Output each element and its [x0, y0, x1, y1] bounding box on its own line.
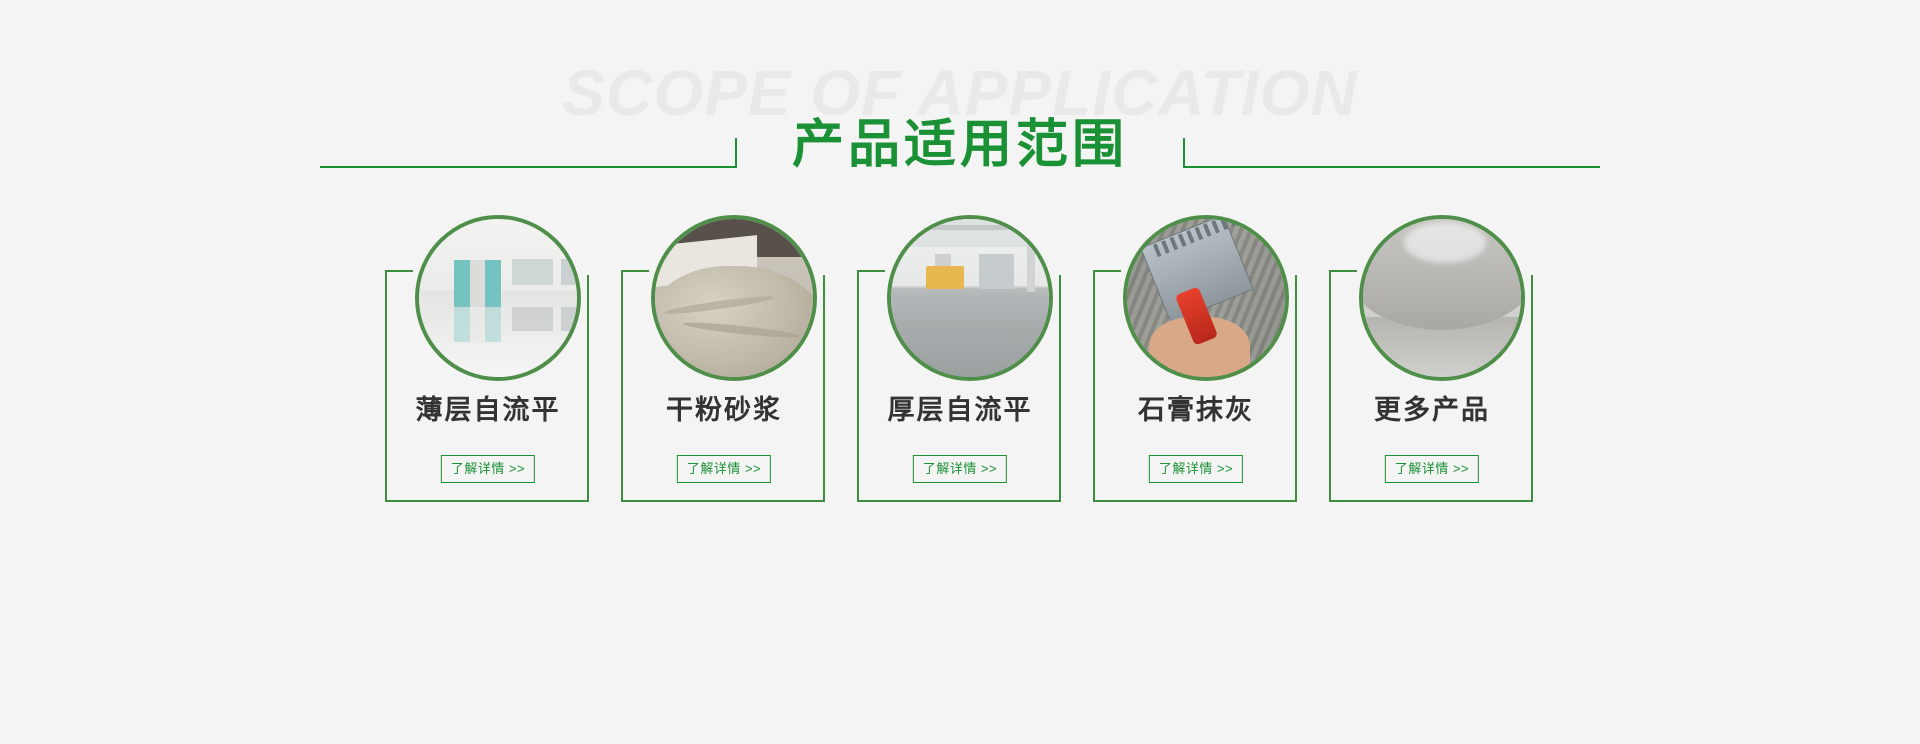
list-item[interactable]: 更多产品 了解详情 >>	[1329, 215, 1535, 505]
page-title: 产品适用范围	[737, 119, 1183, 171]
card-title: 干粉砂浆	[621, 397, 827, 424]
application-cards-list: 薄层自流平 了解详情 >> 干粉砂浆 了解详情 >>	[0, 215, 1920, 535]
section-header: SCOPE OF APPLICATION 产品适用范围	[0, 0, 1920, 215]
card-title: 薄层自流平	[385, 397, 591, 424]
scope-of-application-section: SCOPE OF APPLICATION 产品适用范围 薄层自流平 了解详情 >…	[0, 0, 1920, 744]
learn-more-button[interactable]: 了解详情 >>	[441, 455, 535, 483]
list-item[interactable]: 厚层自流平 了解详情 >>	[857, 215, 1063, 505]
learn-more-button[interactable]: 了解详情 >>	[1149, 455, 1243, 483]
list-item[interactable]: 干粉砂浆 了解详情 >>	[621, 215, 827, 505]
card-image-thin-layer-self-levelling	[415, 215, 581, 381]
card-title: 石膏抹灰	[1093, 397, 1299, 424]
decorative-rule-left	[320, 117, 737, 168]
card-image-gypsum-plastering	[1123, 215, 1289, 381]
thick-layer-self-levelling-warehouse-photo-icon	[891, 219, 1049, 377]
card-title: 厚层自流平	[857, 397, 1063, 424]
card-image-dry-mix-mortar	[651, 215, 817, 381]
card-image-more-products	[1359, 215, 1525, 381]
more-products-sample-photo-icon	[1363, 219, 1521, 377]
learn-more-button[interactable]: 了解详情 >>	[1385, 455, 1479, 483]
learn-more-button[interactable]: 了解详情 >>	[913, 455, 1007, 483]
decorative-rule-right	[1183, 117, 1600, 168]
gypsum-plastering-trowel-photo-icon	[1127, 219, 1285, 377]
title-row: 产品适用范围	[0, 106, 1920, 178]
list-item[interactable]: 薄层自流平 了解详情 >>	[385, 215, 591, 505]
list-item[interactable]: 石膏抹灰 了解详情 >>	[1093, 215, 1299, 505]
card-title: 更多产品	[1329, 397, 1535, 424]
card-image-thick-layer-self-levelling	[887, 215, 1053, 381]
learn-more-button[interactable]: 了解详情 >>	[677, 455, 771, 483]
thin-layer-self-levelling-floor-photo-icon	[419, 219, 577, 377]
dry-mix-mortar-powder-photo-icon	[655, 219, 813, 377]
